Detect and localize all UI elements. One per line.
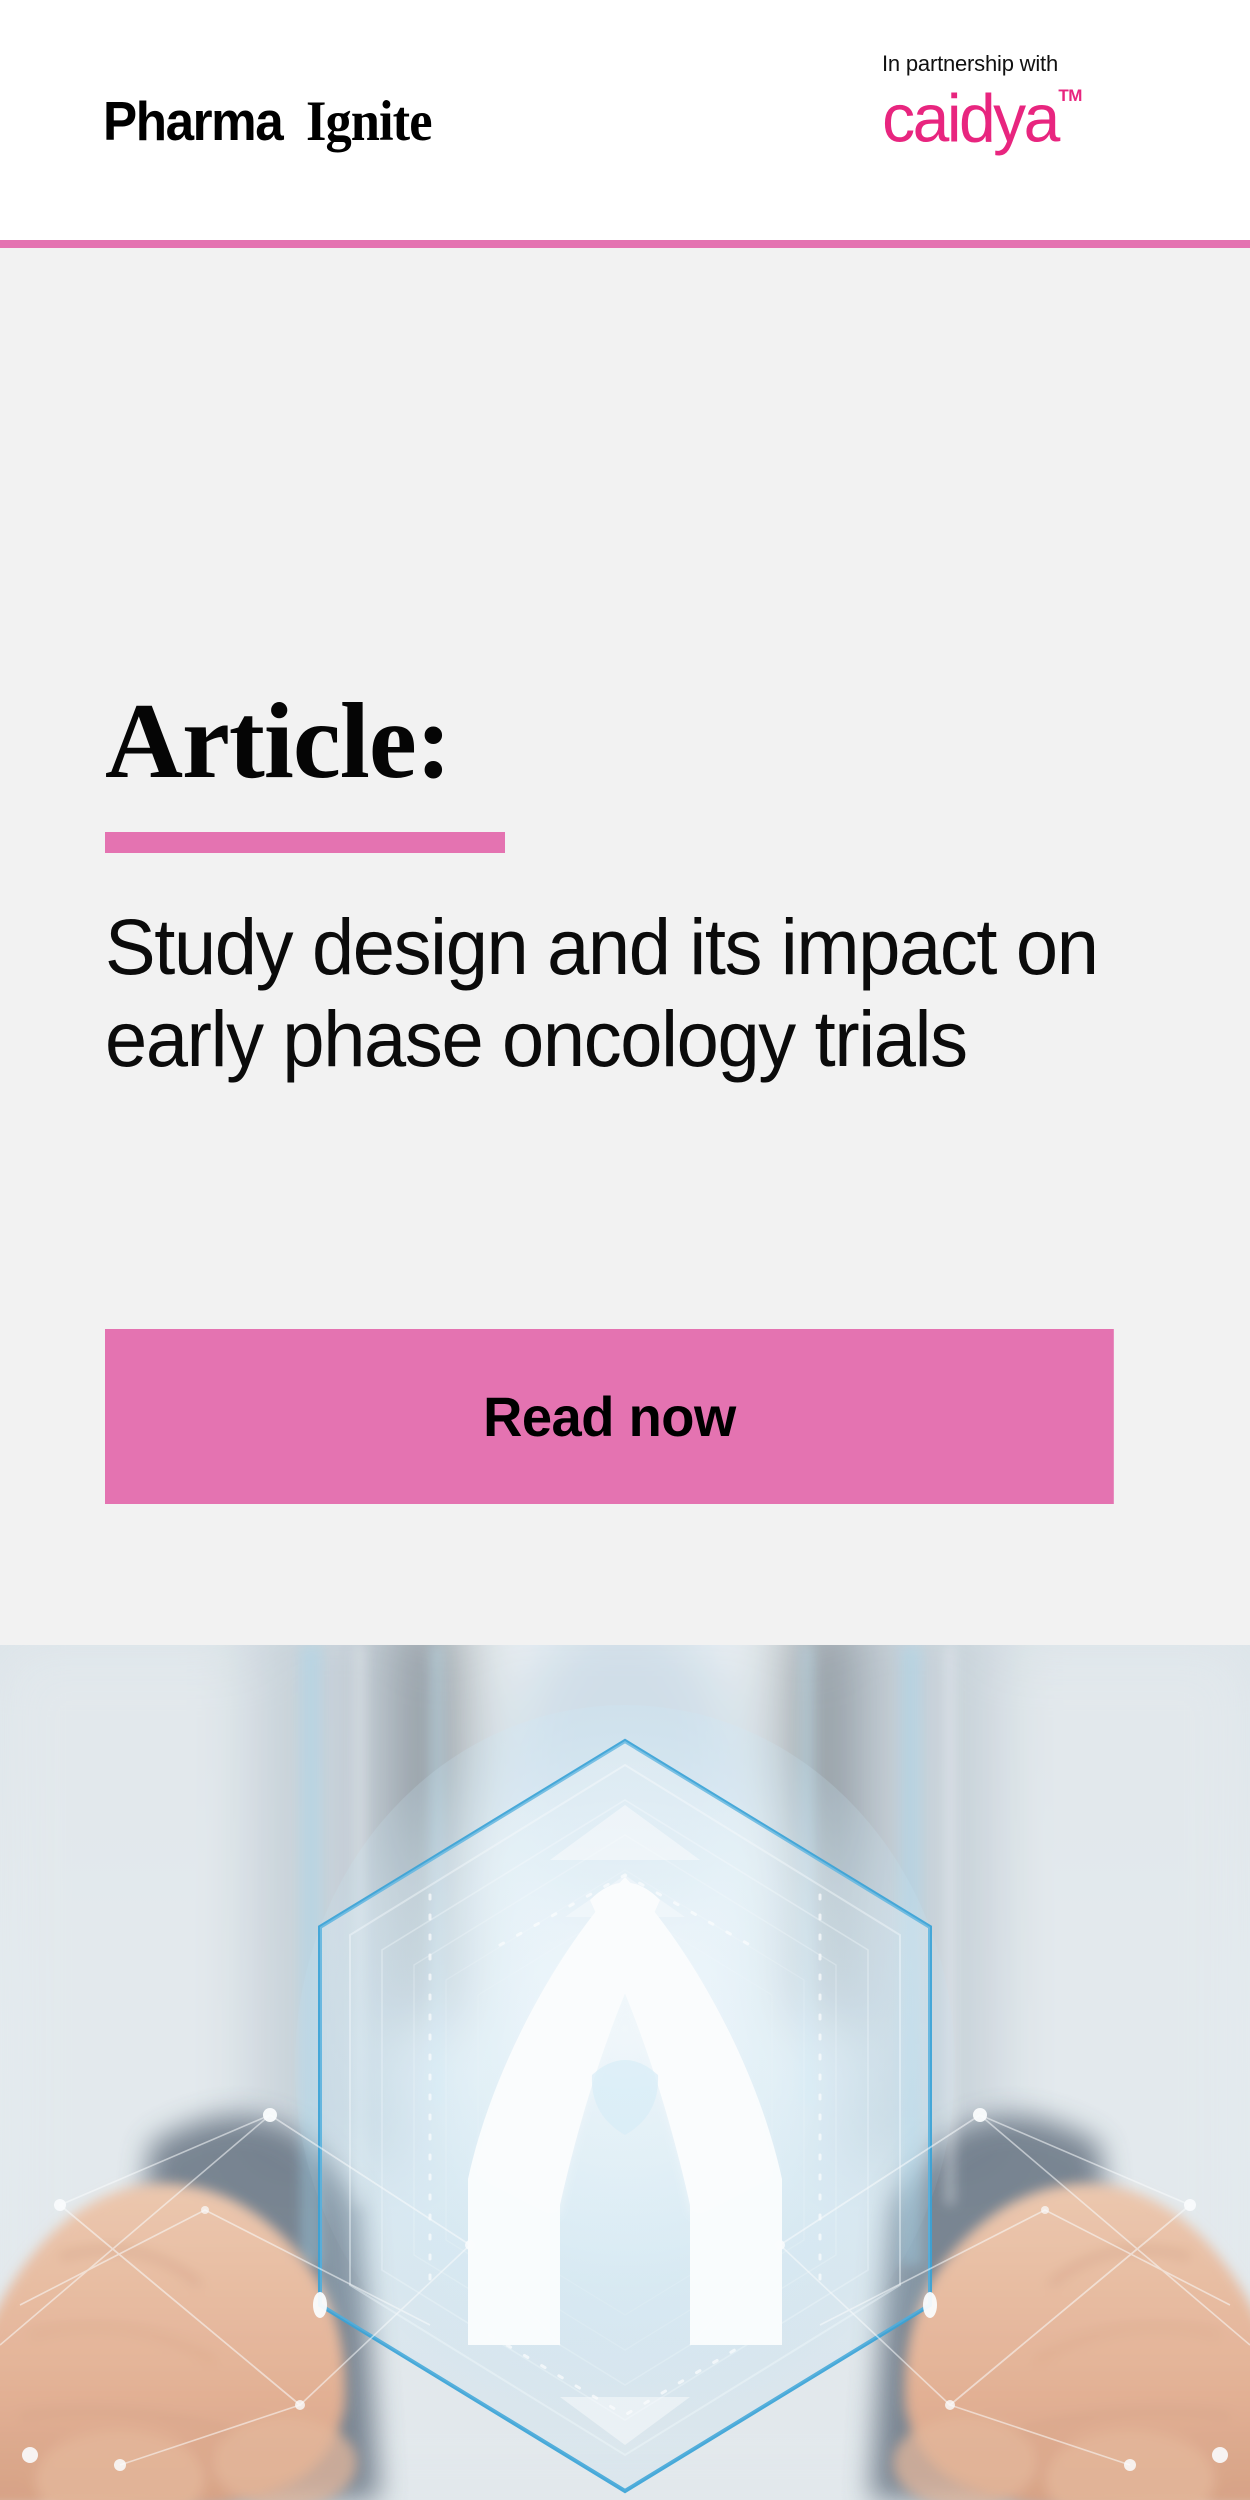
caidya-logo[interactable]: caidya TM [882, 84, 1058, 153]
hero-image-graphic [0, 1645, 1250, 2500]
kicker-underline [105, 832, 505, 853]
caidya-wordmark: caidya [882, 83, 1058, 154]
trademark-icon: TM [1058, 86, 1082, 106]
partnership-label: In partnership with [820, 52, 1120, 76]
header-divider [0, 240, 1250, 248]
page-kicker: Article: [105, 688, 1145, 796]
brand-word-pharma: Pharma [103, 94, 282, 149]
page-title: Study design and its impact on early pha… [105, 901, 1103, 1086]
page-header: PharmaIgnite In partnership with caidya … [0, 0, 1250, 240]
landing-page: PharmaIgnite In partnership with caidya … [0, 0, 1250, 2500]
hero-content: Article: Study design and its impact on … [105, 248, 1145, 1504]
brand-word-ignite: Ignite [306, 93, 432, 150]
pharma-ignite-logo[interactable]: PharmaIgnite [103, 93, 442, 150]
hero-image [0, 1645, 1250, 2500]
partnership-block: In partnership with caidya TM [820, 52, 1120, 153]
hero-section: Article: Study design and its impact on … [0, 248, 1250, 1645]
read-now-button[interactable]: Read now [105, 1329, 1114, 1504]
